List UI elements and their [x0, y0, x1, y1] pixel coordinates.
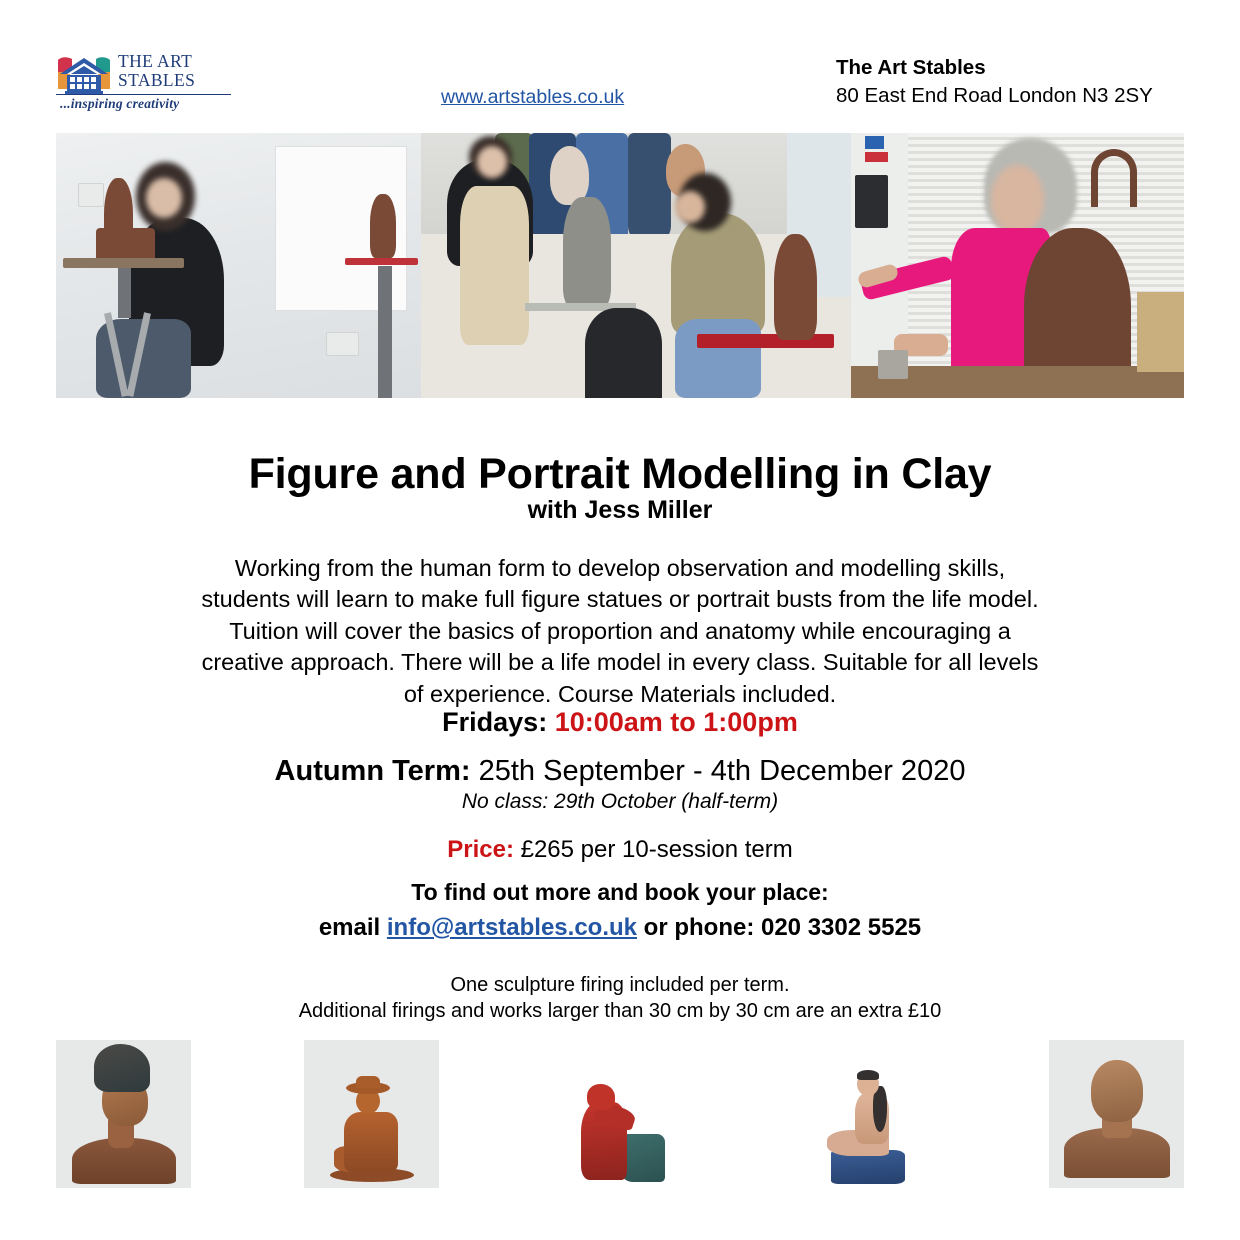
cardboard-panel: [1137, 292, 1184, 372]
wall-telephone: [855, 175, 888, 228]
fineprint-line-2: Additional firings and works larger than…: [0, 998, 1240, 1024]
no-class-note: No class: 29th October (half-term): [0, 790, 1240, 814]
phone-prefix: or phone:: [637, 914, 761, 941]
fineprint-line-1: One sculpture firing included per term.: [0, 972, 1240, 998]
firing-fineprint: One sculpture firing included per term. …: [0, 972, 1240, 1024]
logo-wordmark-line1: THE ART: [118, 52, 233, 71]
page-title: Figure and Portrait Modelling in Clay: [0, 449, 1240, 499]
website-link[interactable]: www.artstables.co.uk: [441, 86, 624, 109]
banner-pane-student-modelling-seated-figure: [56, 133, 421, 398]
logo-tagline: ...inspiring creativity: [60, 96, 235, 112]
hanging-coat: [628, 133, 671, 244]
page-header: THE ART STABLES ...inspiring creativity …: [0, 0, 1240, 133]
second-clay-figure: [370, 194, 396, 258]
bust-hair: [94, 1044, 150, 1092]
figure-head: [587, 1084, 615, 1110]
schedule-term-line: Autumn Term: 25th September - 4th Decemb…: [0, 755, 1240, 788]
figure-hat-crown: [356, 1076, 380, 1088]
wall-socket: [78, 183, 104, 207]
tutor-apron: [460, 186, 529, 345]
red-modelling-board: [345, 258, 418, 266]
booking-heading: To find out more and book your place:: [0, 879, 1240, 906]
course-tutor-subtitle: with Jess Miller: [0, 496, 1240, 525]
red-modelling-board: [697, 334, 835, 347]
modelling-stand-top: [63, 258, 184, 269]
course-description: Working from the human form to develop o…: [190, 553, 1050, 711]
price-value: £265 per 10-session term: [521, 836, 793, 863]
logo-divider: [56, 94, 231, 95]
banner-pane-tutor-in-apron-and-student: [421, 133, 851, 398]
water-pot: [878, 350, 908, 379]
term-label: Autumn Term:: [275, 755, 471, 787]
armature-hook: [1091, 149, 1138, 207]
price-label: Price:: [447, 836, 514, 863]
schedule-day-label: Fridays:: [442, 707, 547, 737]
banner-pane-tutor-in-pink-modelling-bust: [851, 133, 1184, 398]
sculpture-gallery: [56, 1040, 1184, 1188]
phone-number: 020 3302 5525: [761, 914, 921, 941]
tutor-face-blurred: [991, 165, 1044, 234]
figure-body: [344, 1112, 398, 1172]
email-prefix: email: [319, 914, 387, 941]
figure-fringe: [857, 1070, 879, 1080]
venue-address: 80 East End Road London N3 2SY: [836, 84, 1153, 108]
grey-clay-sculpture: [563, 197, 610, 308]
modelling-stand-column: [378, 266, 393, 399]
contact-line: email info@artstables.co.uk or phone: 02…: [0, 914, 1240, 942]
handbag: [550, 146, 589, 204]
studio-banner-photo: [56, 133, 1184, 398]
price-line: Price: £265 per 10-session term: [0, 836, 1240, 864]
student-jeans: [675, 319, 761, 399]
gallery-item-bald-male-bust: [1049, 1040, 1184, 1188]
gallery-item-seated-man-with-hat: [304, 1040, 439, 1188]
venue-name: The Art Stables: [836, 56, 986, 80]
modelling-stand-column: [118, 268, 131, 318]
gallery-item-bust-woman-dark-hair: [56, 1040, 191, 1188]
gallery-item-seated-female-nude-blue-base: [801, 1040, 936, 1188]
schedule-day-line: Fridays: 10:00am to 1:00pm: [0, 707, 1240, 738]
art-stables-logo[interactable]: THE ART STABLES ...inspiring creativity: [56, 52, 231, 114]
wall-notice: [865, 136, 885, 149]
bust-head: [1091, 1060, 1143, 1122]
wall-notice: [865, 152, 888, 163]
student-face-blurred: [675, 191, 705, 223]
logo-wordmark: THE ART STABLES: [118, 52, 233, 89]
gallery-item-red-seated-thinker: [553, 1040, 688, 1188]
clay-figure-on-board: [774, 234, 817, 340]
student-face-blurred: [146, 178, 183, 218]
student-sweater: [671, 213, 766, 335]
logo-wordmark-line2: STABLES: [118, 71, 233, 90]
wall-socket: [326, 332, 359, 356]
schedule-time: 10:00am to 1:00pm: [555, 707, 798, 737]
art-stables-house-logo-icon: [56, 54, 112, 98]
email-link[interactable]: info@artstables.co.uk: [387, 914, 637, 941]
black-plastic-cover: [585, 308, 662, 398]
term-dates: 25th September - 4th December 2020: [479, 755, 966, 787]
